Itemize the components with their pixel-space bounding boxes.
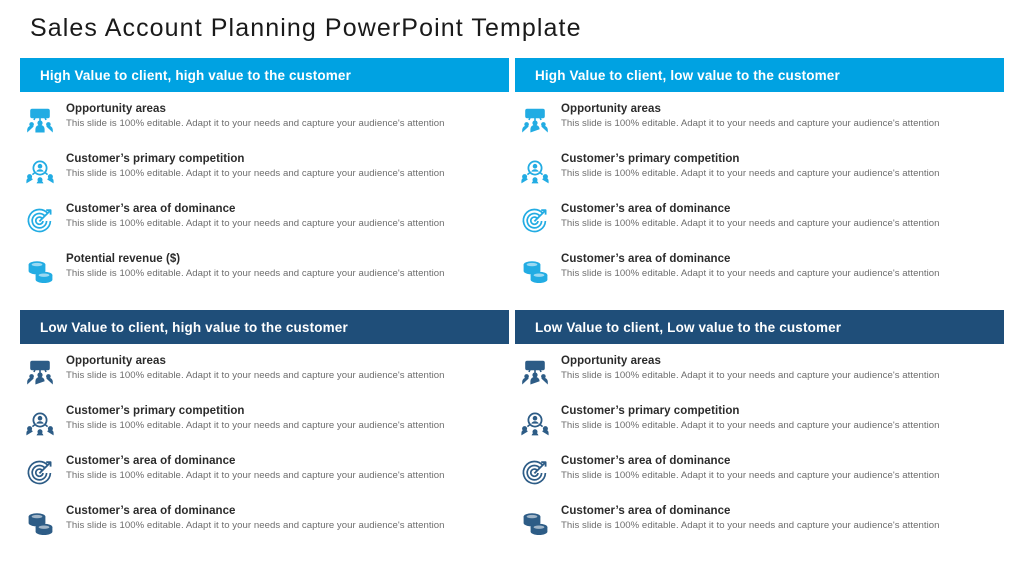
list-item-title: Customer’s area of dominance bbox=[561, 504, 1004, 518]
list-item-description: This slide is 100% editable. Adapt it to… bbox=[561, 369, 1004, 383]
competition-network-icon bbox=[517, 406, 553, 440]
competition-network-icon bbox=[22, 406, 58, 440]
list-item[interactable]: Customer’s area of dominance This slide … bbox=[20, 504, 509, 554]
quadrant-grid: High Value to client, high value to the … bbox=[0, 58, 1024, 568]
list-item-title: Opportunity areas bbox=[561, 354, 1004, 368]
list-item-description: This slide is 100% editable. Adapt it to… bbox=[66, 369, 509, 383]
audience-presentation-icon bbox=[22, 104, 58, 138]
target-dartboard-icon bbox=[517, 204, 553, 238]
list-item-description: This slide is 100% editable. Adapt it to… bbox=[561, 419, 1004, 433]
quadrant-low-client-low-customer: Low Value to client, Low value to the cu… bbox=[515, 310, 1004, 554]
list-item[interactable]: Customer’s area of dominance This slide … bbox=[515, 252, 1004, 302]
coins-stack-icon bbox=[22, 506, 58, 540]
list-item-title: Customer’s primary competition bbox=[66, 404, 509, 418]
list-item[interactable]: Potential revenue ($) This slide is 100%… bbox=[20, 252, 509, 302]
list-item[interactable]: Opportunity areas This slide is 100% edi… bbox=[515, 102, 1004, 152]
list-item-title: Customer’s area of dominance bbox=[66, 202, 509, 216]
list-item-title: Opportunity areas bbox=[66, 102, 509, 116]
quadrant-high-client-low-customer: High Value to client, low value to the c… bbox=[515, 58, 1004, 302]
list-item-description: This slide is 100% editable. Adapt it to… bbox=[561, 469, 1004, 483]
list-item-title: Customer’s area of dominance bbox=[561, 454, 1004, 468]
quadrant-high-client-high-customer: High Value to client, high value to the … bbox=[20, 58, 509, 302]
target-dartboard-icon bbox=[517, 456, 553, 490]
target-dartboard-icon bbox=[22, 456, 58, 490]
list-item-description: This slide is 100% editable. Adapt it to… bbox=[561, 167, 1004, 181]
list-item-title: Customer’s primary competition bbox=[561, 152, 1004, 166]
list-item-title: Customer’s area of dominance bbox=[561, 202, 1004, 216]
list-item-title: Customer’s primary competition bbox=[561, 404, 1004, 418]
list-item-title: Customer’s primary competition bbox=[66, 152, 509, 166]
slide-canvas: Sales Account Planning PowerPoint Templa… bbox=[0, 0, 1024, 576]
list-item[interactable]: Customer’s area of dominance This slide … bbox=[20, 202, 509, 252]
list-item[interactable]: Customer’s primary competition This slid… bbox=[515, 152, 1004, 202]
quadrant-header-low-client-high-customer: Low Value to client, high value to the c… bbox=[20, 310, 509, 344]
page-title: Sales Account Planning PowerPoint Templa… bbox=[30, 14, 582, 43]
target-dartboard-icon bbox=[22, 204, 58, 238]
list-item[interactable]: Opportunity areas This slide is 100% edi… bbox=[515, 354, 1004, 404]
list-item-title: Customer’s area of dominance bbox=[66, 454, 509, 468]
competition-network-icon bbox=[517, 154, 553, 188]
list-item[interactable]: Customer’s area of dominance This slide … bbox=[515, 504, 1004, 554]
quadrant-row-list: Opportunity areas This slide is 100% edi… bbox=[515, 344, 1004, 554]
quadrant-header-low-client-low-customer: Low Value to client, Low value to the cu… bbox=[515, 310, 1004, 344]
list-item-title: Customer’s area of dominance bbox=[561, 252, 1004, 266]
audience-presentation-icon bbox=[517, 356, 553, 390]
list-item-title: Opportunity areas bbox=[66, 354, 509, 368]
audience-presentation-icon bbox=[517, 104, 553, 138]
list-item-description: This slide is 100% editable. Adapt it to… bbox=[561, 267, 1004, 281]
list-item[interactable]: Customer’s area of dominance This slide … bbox=[20, 454, 509, 504]
audience-presentation-icon bbox=[22, 356, 58, 390]
list-item[interactable]: Opportunity areas This slide is 100% edi… bbox=[20, 354, 509, 404]
coins-stack-icon bbox=[22, 254, 58, 288]
competition-network-icon bbox=[22, 154, 58, 188]
coins-stack-icon bbox=[517, 254, 553, 288]
list-item-title: Customer’s area of dominance bbox=[66, 504, 509, 518]
list-item[interactable]: Customer’s primary competition This slid… bbox=[20, 152, 509, 202]
list-item-description: This slide is 100% editable. Adapt it to… bbox=[561, 117, 1004, 131]
list-item-description: This slide is 100% editable. Adapt it to… bbox=[66, 267, 509, 281]
list-item[interactable]: Customer’s area of dominance This slide … bbox=[515, 454, 1004, 504]
list-item-description: This slide is 100% editable. Adapt it to… bbox=[66, 217, 509, 231]
list-item[interactable]: Customer’s area of dominance This slide … bbox=[515, 202, 1004, 252]
quadrant-row-list: Opportunity areas This slide is 100% edi… bbox=[20, 92, 509, 302]
list-item[interactable]: Customer’s primary competition This slid… bbox=[20, 404, 509, 454]
list-item-description: This slide is 100% editable. Adapt it to… bbox=[66, 419, 509, 433]
list-item-title: Potential revenue ($) bbox=[66, 252, 509, 266]
list-item-description: This slide is 100% editable. Adapt it to… bbox=[66, 117, 509, 131]
list-item-description: This slide is 100% editable. Adapt it to… bbox=[561, 519, 1004, 533]
quadrant-row-list: Opportunity areas This slide is 100% edi… bbox=[515, 92, 1004, 302]
quadrant-header-high-client-high-customer: High Value to client, high value to the … bbox=[20, 58, 509, 92]
list-item-description: This slide is 100% editable. Adapt it to… bbox=[66, 469, 509, 483]
list-item[interactable]: Customer’s primary competition This slid… bbox=[515, 404, 1004, 454]
quadrant-low-client-high-customer: Low Value to client, high value to the c… bbox=[20, 310, 509, 554]
quadrant-header-high-client-low-customer: High Value to client, low value to the c… bbox=[515, 58, 1004, 92]
list-item[interactable]: Opportunity areas This slide is 100% edi… bbox=[20, 102, 509, 152]
list-item-description: This slide is 100% editable. Adapt it to… bbox=[66, 519, 509, 533]
list-item-title: Opportunity areas bbox=[561, 102, 1004, 116]
quadrant-row-list: Opportunity areas This slide is 100% edi… bbox=[20, 344, 509, 554]
coins-stack-icon bbox=[517, 506, 553, 540]
list-item-description: This slide is 100% editable. Adapt it to… bbox=[561, 217, 1004, 231]
list-item-description: This slide is 100% editable. Adapt it to… bbox=[66, 167, 509, 181]
